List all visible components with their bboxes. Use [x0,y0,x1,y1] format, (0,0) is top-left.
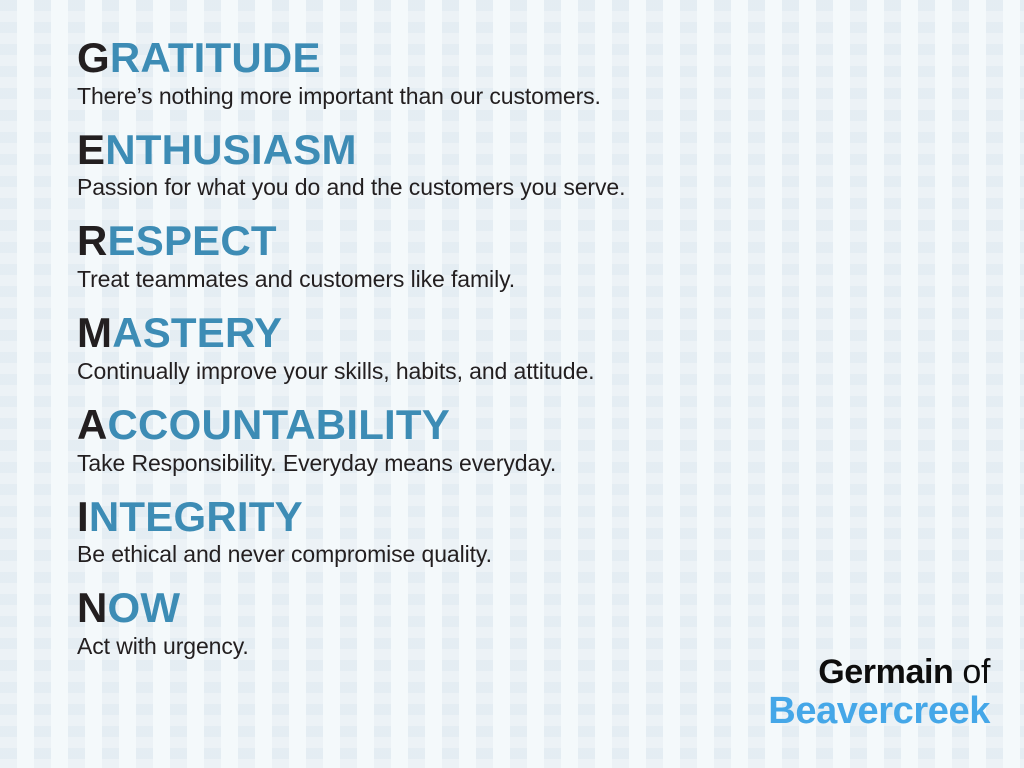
value-word-respect: RESPECT [77,219,1024,263]
value-word-integrity: INTEGRITY [77,495,1024,539]
value-rest: RATITUDE [110,34,321,81]
logo-location: Beavercreek [768,692,990,730]
value-rest: NTEGRITY [89,493,303,540]
value-description: Be ethical and never compromise quality. [77,540,1024,568]
value-description: Passion for what you do and the customer… [77,173,1024,201]
value-initial: M [77,309,112,356]
logo-top-line: Germain of [768,655,990,689]
value-description: There’s nothing more important than our … [77,82,1024,110]
value-initial: R [77,217,108,264]
value-initial: N [77,584,108,631]
value-initial: E [77,126,105,173]
values-slide: GRATITUDE There’s nothing more important… [0,0,1024,768]
value-word-now: NOW [77,586,1024,630]
value-rest: NTHUSIASM [105,126,356,173]
value-block-integrity: INTEGRITY Be ethical and never compromis… [77,495,1024,569]
value-block-now: NOW Act with urgency. [77,586,1024,660]
value-word-enthusiasm: ENTHUSIASM [77,128,1024,172]
value-block-enthusiasm: ENTHUSIASM Passion for what you do and t… [77,128,1024,202]
value-block-respect: RESPECT Treat teammates and customers li… [77,219,1024,293]
value-rest: CCOUNTABILITY [108,401,450,448]
value-initial: A [77,401,108,448]
value-description: Continually improve your skills, habits,… [77,357,1024,385]
logo-connector: of [953,653,990,691]
value-word-mastery: MASTERY [77,311,1024,355]
value-block-mastery: MASTERY Continually improve your skills,… [77,311,1024,385]
value-rest: ESPECT [108,217,277,264]
value-description: Treat teammates and customers like famil… [77,265,1024,293]
value-block-gratitude: GRATITUDE There’s nothing more important… [77,36,1024,110]
value-rest: ASTERY [112,309,282,356]
value-word-accountability: ACCOUNTABILITY [77,403,1024,447]
value-initial: G [77,34,110,81]
dealership-logo: Germain of Beavercreek [768,655,990,730]
value-word-gratitude: GRATITUDE [77,36,1024,80]
value-description: Take Responsibility. Everyday means ever… [77,449,1024,477]
value-rest: OW [108,584,181,631]
logo-brand-name: Germain [818,653,953,691]
value-block-accountability: ACCOUNTABILITY Take Responsibility. Ever… [77,403,1024,477]
value-initial: I [77,493,89,540]
